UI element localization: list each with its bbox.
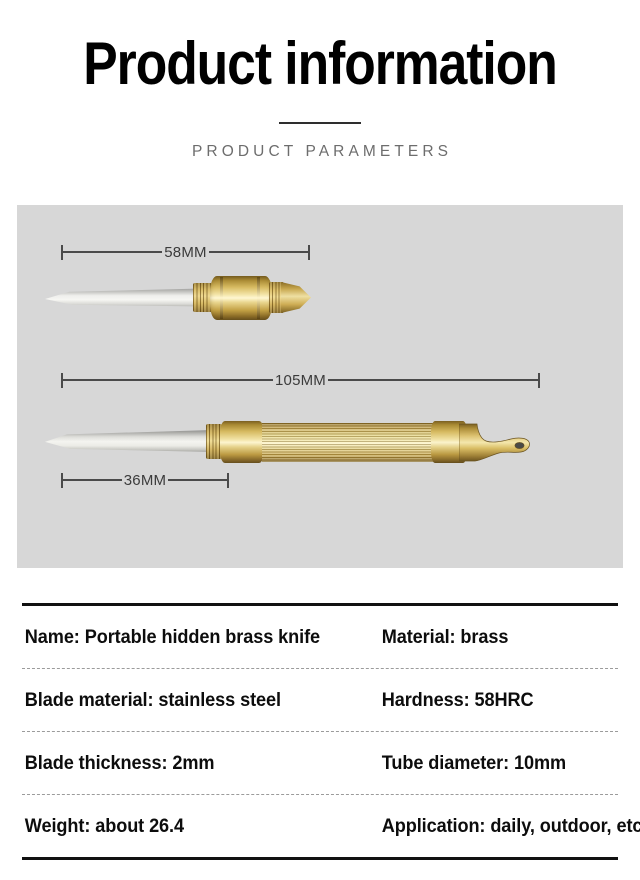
tube-knife-front-ferrule bbox=[220, 421, 264, 463]
dimension-cap-right bbox=[227, 473, 229, 488]
title-divider bbox=[279, 122, 361, 124]
bottle-opener-hook-icon bbox=[459, 422, 531, 463]
dimension-rule-right bbox=[328, 379, 538, 381]
bullet-knife-illustration bbox=[45, 272, 305, 324]
tube-knife-illustration bbox=[45, 416, 535, 470]
spec-weight: Weight: about 26.4 bbox=[22, 815, 353, 838]
dimension-label-105mm: 105MM bbox=[273, 373, 328, 388]
dimension-cap-right bbox=[538, 373, 540, 388]
dimension-105mm: 105MM bbox=[61, 371, 540, 389]
table-row: Weight: about 26.4 Application: daily, o… bbox=[22, 795, 618, 857]
product-image-panel: 58MM 105MM bbox=[17, 205, 623, 568]
table-bottom-rule bbox=[22, 857, 618, 860]
specification-table: Name: Portable hidden brass knife Materi… bbox=[22, 603, 618, 860]
dimension-rule-left bbox=[63, 251, 163, 253]
bullet-knife-tip bbox=[281, 282, 311, 313]
spec-material: Material: brass bbox=[378, 626, 601, 649]
bullet-knife-barrel bbox=[210, 276, 272, 320]
dimension-rule-left bbox=[63, 379, 273, 381]
page-header: Product information PRODUCT PARAMETERS bbox=[0, 0, 640, 161]
dimension-36mm: 36MM bbox=[61, 471, 229, 489]
page-title: Product information bbox=[45, 34, 595, 94]
dimension-rule-right bbox=[209, 251, 309, 253]
page-subtitle: PRODUCT PARAMETERS bbox=[0, 143, 640, 161]
tube-knife-blade bbox=[45, 430, 213, 452]
spec-blade-material: Blade material: stainless steel bbox=[22, 689, 353, 712]
dimension-rule-right bbox=[168, 479, 227, 481]
dimension-label-58mm: 58MM bbox=[162, 245, 208, 260]
dimension-58mm: 58MM bbox=[61, 243, 310, 261]
spec-tube-diameter: Tube diameter: 10mm bbox=[378, 752, 601, 775]
table-row: Blade material: stainless steel Hardness… bbox=[22, 669, 618, 732]
dimension-rule-left bbox=[63, 479, 122, 481]
table-row: Name: Portable hidden brass knife Materi… bbox=[22, 606, 618, 669]
spec-application: Application: daily, outdoor, etc. bbox=[378, 815, 640, 838]
bullet-knife-blade bbox=[45, 288, 197, 307]
dimension-label-36mm: 36MM bbox=[122, 473, 168, 488]
table-row: Blade thickness: 2mm Tube diameter: 10mm bbox=[22, 732, 618, 795]
spec-hardness: Hardness: 58HRC bbox=[378, 689, 601, 712]
spec-name: Name: Portable hidden brass knife bbox=[22, 626, 353, 649]
spec-blade-thickness: Blade thickness: 2mm bbox=[22, 752, 353, 775]
tube-knife-fluted-body bbox=[262, 423, 434, 462]
dimension-cap-right bbox=[308, 245, 310, 260]
